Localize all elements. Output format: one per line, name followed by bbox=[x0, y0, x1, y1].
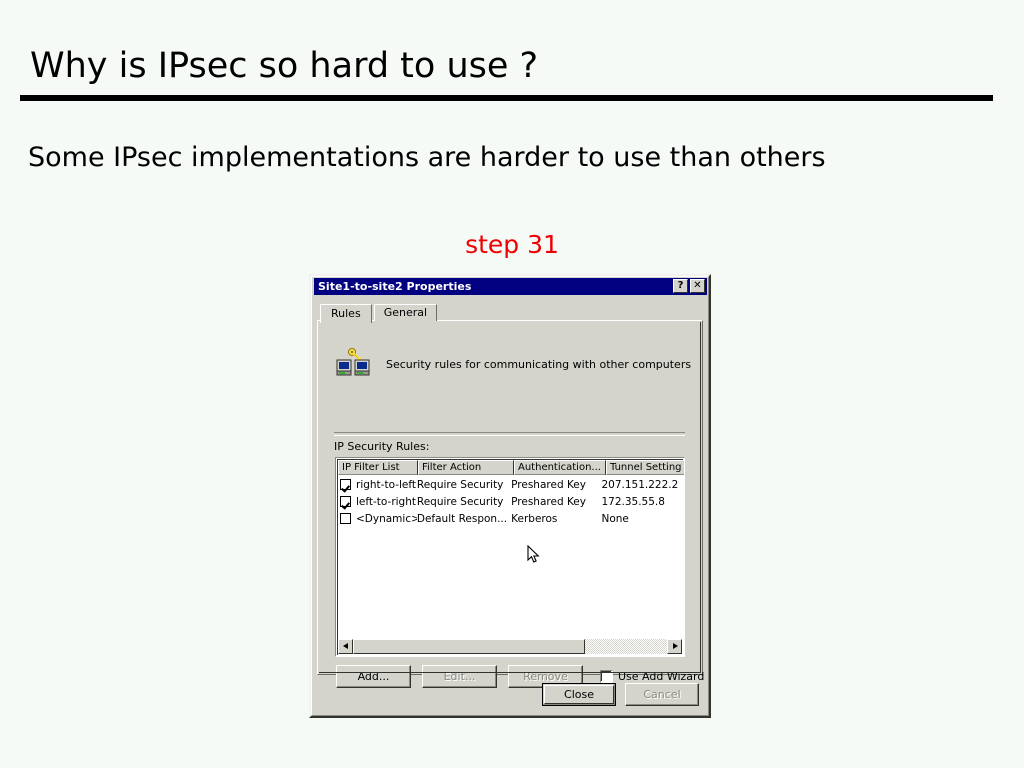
cancel-button: Cancel bbox=[625, 683, 699, 706]
cell-authentication: Kerberos bbox=[511, 513, 601, 525]
cell-filter-action: Require Security bbox=[417, 479, 511, 491]
cell-tunnel-setting: None bbox=[601, 513, 682, 525]
cell-authentication: Preshared Key bbox=[511, 496, 601, 508]
use-add-wizard-box[interactable] bbox=[600, 670, 613, 683]
table-row[interactable]: left-to-right Require Security Preshared… bbox=[338, 493, 682, 510]
dialog-title: Site1-to-site2 Properties bbox=[318, 280, 471, 293]
properties-dialog: Site1-to-site2 Properties ? ✕ Rules Gene… bbox=[309, 274, 711, 718]
tabstrip: Rules General bbox=[320, 303, 439, 321]
use-add-wizard-label: Use Add Wizard bbox=[618, 670, 704, 683]
scroll-left-arrow-icon[interactable] bbox=[338, 639, 353, 654]
titlebar-button-group: ? ✕ bbox=[673, 279, 705, 293]
ip-security-rules-list[interactable]: IP Filter List Filter Action Authenticat… bbox=[335, 457, 685, 657]
tab-general[interactable]: General bbox=[374, 304, 437, 321]
table-row[interactable]: right-to-left Require Security Preshared… bbox=[338, 476, 682, 493]
dialog-titlebar[interactable]: Site1-to-site2 Properties ? ✕ bbox=[314, 278, 707, 295]
two-computers-with-key-icon bbox=[336, 347, 372, 382]
tab-rules[interactable]: Rules bbox=[320, 304, 372, 323]
cell-tunnel-setting: 172.35.55.8 bbox=[601, 496, 682, 508]
add-button[interactable]: Add... bbox=[336, 665, 411, 688]
column-header-authentication[interactable]: Authentication... bbox=[514, 460, 606, 475]
row-checkbox[interactable] bbox=[340, 496, 351, 507]
scrollbar-thumb[interactable] bbox=[353, 639, 585, 654]
step-label: step 31 bbox=[0, 230, 1024, 259]
row-checkbox[interactable] bbox=[340, 513, 351, 524]
edit-button: Edit... bbox=[422, 665, 497, 688]
close-button[interactable]: Close bbox=[542, 683, 616, 706]
cell-ip-filter-list: <Dynamic> bbox=[356, 513, 417, 525]
cell-ip-filter-list: right-to-left bbox=[356, 479, 417, 491]
column-header-filter-action[interactable]: Filter Action bbox=[418, 460, 514, 475]
cell-filter-action: Default Respon... bbox=[417, 513, 511, 525]
close-button-label: Close bbox=[544, 685, 614, 704]
column-header-tunnel-setting[interactable]: Tunnel Setting bbox=[606, 460, 685, 475]
list-rows: right-to-left Require Security Preshared… bbox=[338, 476, 682, 527]
help-icon[interactable]: ? bbox=[673, 279, 688, 293]
list-header-row: IP Filter List Filter Action Authenticat… bbox=[338, 460, 685, 475]
use-add-wizard-checkbox[interactable]: Use Add Wizard bbox=[600, 670, 704, 683]
title-divider bbox=[20, 95, 993, 101]
dialog-footer-buttons: Close Cancel bbox=[533, 683, 699, 706]
description-row: Security rules for communicating with ot… bbox=[336, 347, 691, 382]
rules-label: IP Security Rules: bbox=[334, 440, 429, 453]
cell-tunnel-setting: 207.151.222.2 bbox=[601, 479, 682, 491]
horizontal-scrollbar[interactable] bbox=[338, 639, 682, 654]
row-checkbox[interactable] bbox=[340, 479, 351, 490]
slide-subtitle: Some IPsec implementations are harder to… bbox=[28, 142, 826, 173]
table-row[interactable]: <Dynamic> Default Respon... Kerberos Non… bbox=[338, 510, 682, 527]
cell-ip-filter-list: left-to-right bbox=[356, 496, 417, 508]
cell-filter-action: Require Security bbox=[417, 496, 511, 508]
cell-authentication: Preshared Key bbox=[511, 479, 601, 491]
rules-tab-panel: Security rules for communicating with ot… bbox=[317, 320, 703, 675]
column-header-ip-filter-list[interactable]: IP Filter List bbox=[338, 460, 418, 475]
scrollbar-track[interactable] bbox=[353, 639, 667, 654]
page-title: Why is IPsec so hard to use ? bbox=[30, 46, 538, 86]
description-text: Security rules for communicating with ot… bbox=[386, 358, 691, 371]
close-icon[interactable]: ✕ bbox=[690, 279, 705, 293]
group-divider bbox=[334, 432, 685, 436]
scroll-right-arrow-icon[interactable] bbox=[667, 639, 682, 654]
